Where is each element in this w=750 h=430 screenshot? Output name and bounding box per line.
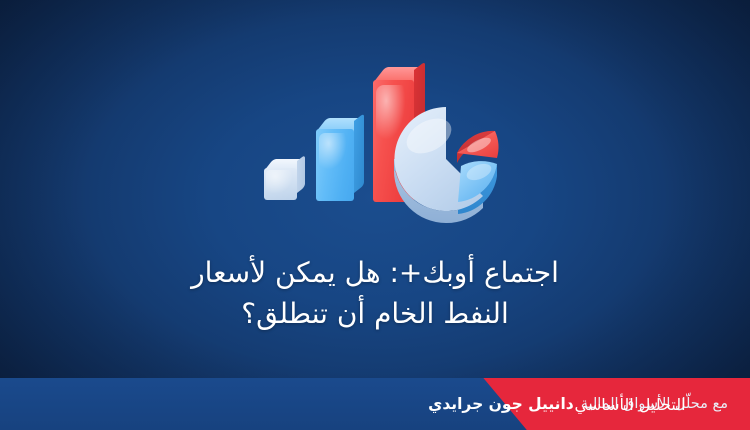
category-badge: التحليل الأساسي — [510, 378, 750, 430]
pie-chart-icon — [385, 98, 507, 220]
cube-front-face — [264, 168, 297, 200]
page-title: اجتماع أوبك+: هل يمكن لأسعار النفط الخام… — [60, 252, 690, 334]
bar-cube-small-icon — [264, 159, 304, 200]
headline-line-1: اجتماع أوبك+: هل يمكن لأسعار — [60, 252, 690, 293]
blue-bar-front-face — [316, 129, 354, 201]
footer-bar: مع محلّل الأسواق المالية دانييل جون جراي… — [0, 378, 750, 430]
blue-bar-side-face — [354, 113, 364, 193]
bar-blue-medium-icon — [316, 118, 364, 201]
headline-line-2: النفط الخام أن تنطلق؟ — [60, 293, 690, 334]
bar-pie-chart-illustration — [255, 58, 505, 223]
analysis-banner-card: اجتماع أوبك+: هل يمكن لأسعار النفط الخام… — [0, 0, 750, 430]
cube-side-face — [297, 155, 305, 193]
category-label: التحليل الأساسي — [574, 395, 685, 414]
